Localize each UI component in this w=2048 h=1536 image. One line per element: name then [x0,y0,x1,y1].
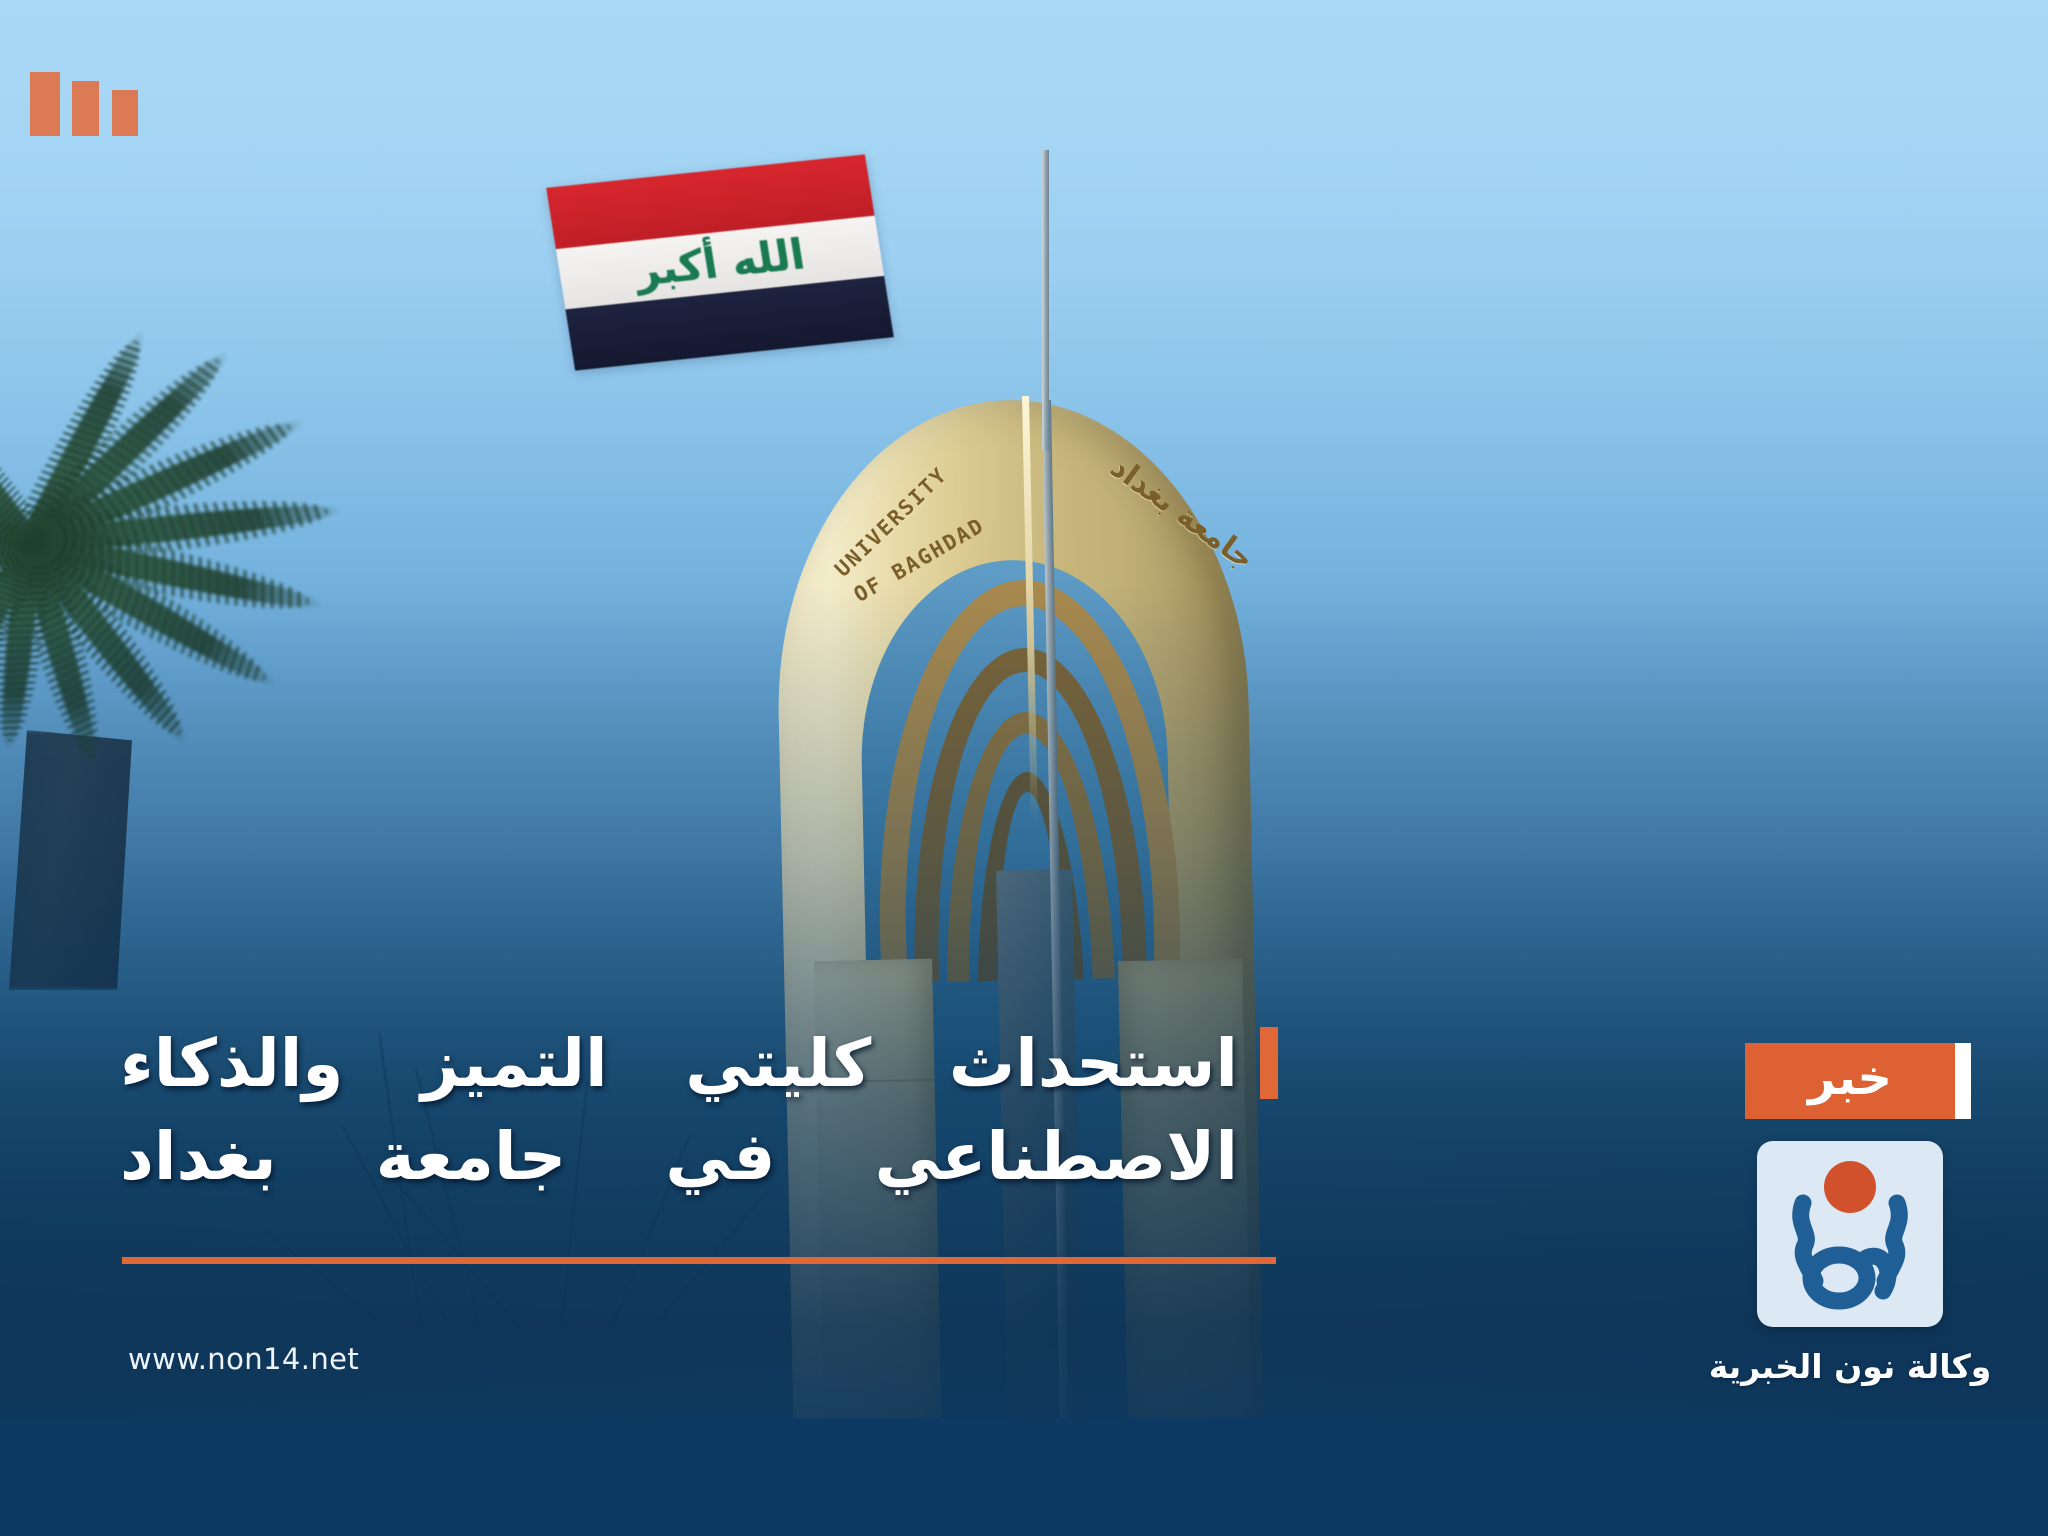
logo-figure-icon [1757,1141,1943,1327]
page-title: استحداث كليتي التميز والذكاء الاصطناعي ف… [120,1017,1238,1204]
news-badge: خبر [1745,1043,1955,1119]
agency-name: وكالة نون الخبرية [1700,1347,2000,1386]
headline-divider [122,1257,1276,1264]
agency-logo-block: خبر وكالة نون الخبرية [1700,1043,2000,1386]
bottom-bar [0,1418,2048,1536]
headline-block: استحداث كليتي التميز والذكاء الاصطناعي ف… [120,1017,1278,1204]
agency-logo-tile [1757,1141,1943,1327]
site-url[interactable]: www.non14.net [128,1342,359,1376]
palm-frond [0,388,40,551]
headline-accent-bar [1260,1027,1278,1099]
news-badge-label: خبر [1808,1054,1892,1102]
flag-pole-upper [1042,150,1049,450]
news-graphic-card: UNIVERSITY OF BAGHDAD جامعة بغداد الله أ… [0,0,2048,1536]
iraq-flag: الله أكبر [546,154,894,370]
signal-bars-mark-icon [30,72,148,136]
